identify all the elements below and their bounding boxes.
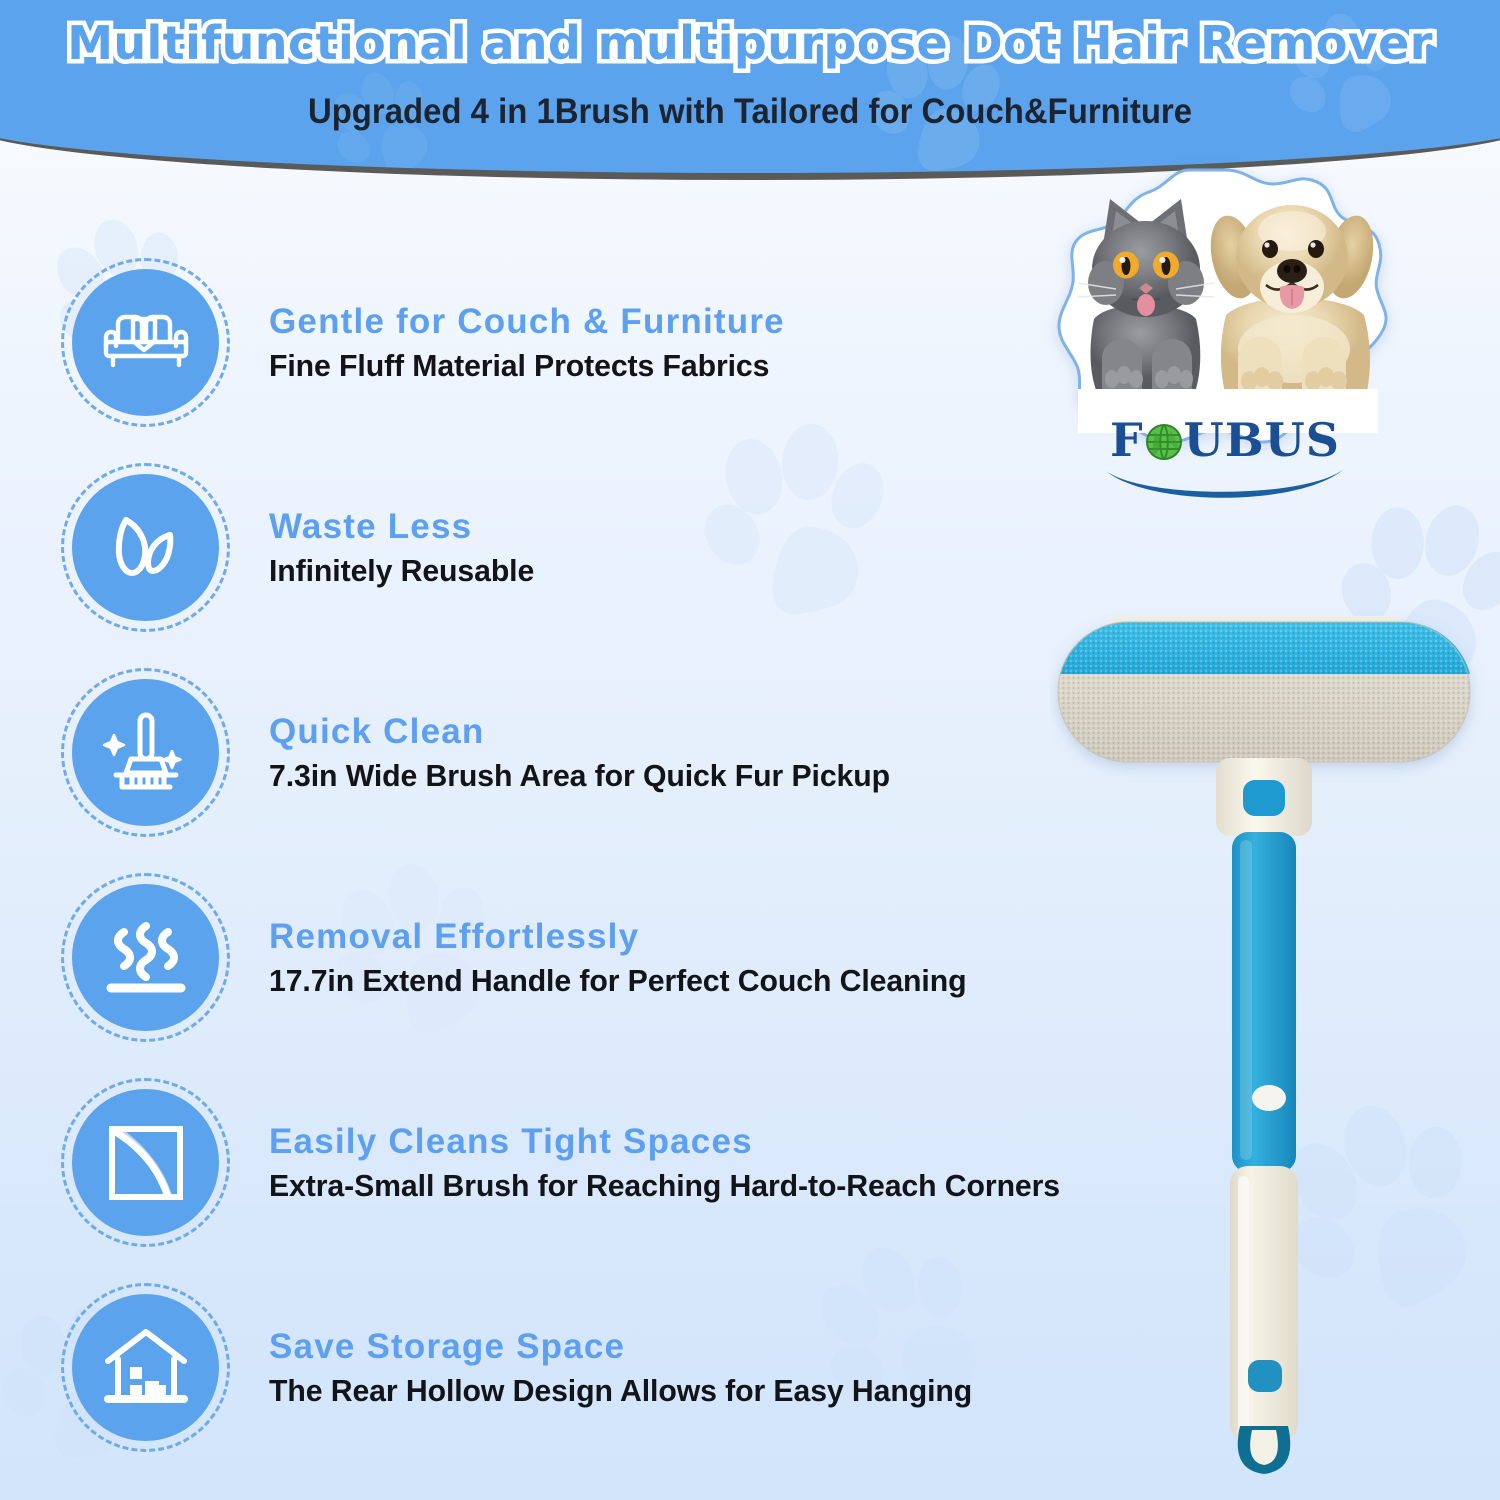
feature-heading: Save Storage Space (269, 1327, 990, 1366)
pet-photo-group (1058, 183, 1392, 433)
feature-heading: Gentle for Couch & Furniture (269, 302, 785, 341)
infographic-page: Multifunctional and multipurpose Dot Hai… (0, 0, 1500, 1500)
golden-retriever-puppy (1204, 205, 1381, 403)
handle-collar (1216, 758, 1312, 836)
feature-icon-badge (58, 460, 233, 635)
icon-circle (72, 884, 219, 1031)
hanging-hole (1248, 1360, 1282, 1392)
feature-text: Save Storage Space The Rear Hollow Desig… (233, 1327, 990, 1409)
lower-handle (1230, 1166, 1298, 1442)
house-icon (102, 1325, 190, 1411)
upper-handle (1232, 832, 1296, 1172)
feature-description: The Rear Hollow Design Allows for Easy H… (269, 1373, 972, 1409)
icon-circle (72, 1089, 219, 1236)
page-subtitle: Upgraded 4 in 1Brush with Tailored for C… (45, 92, 1455, 132)
grey-cat (1078, 199, 1214, 395)
header-banner: Multifunctional and multipurpose Dot Hai… (0, 0, 1500, 180)
feature-text: Waste Less Infinitely Reusable (233, 507, 541, 589)
logo-swoosh (1030, 465, 1420, 510)
hanging-loop (1238, 1426, 1291, 1474)
feature-item: Waste Less Infinitely Reusable (58, 445, 1068, 650)
feature-icon-badge (58, 1075, 233, 1250)
brush-head (1058, 622, 1470, 762)
feature-description: 17.7in Extend Handle for Perfect Couch C… (269, 963, 966, 999)
couch-icon (100, 310, 192, 376)
feature-icon-badge (58, 1280, 233, 1455)
logo-letter-f: F (1110, 413, 1144, 467)
page-title: Multifunctional and multipurpose Dot Hai… (0, 16, 1500, 70)
feature-heading: Waste Less (269, 507, 541, 546)
tight-corner-icon (105, 1122, 187, 1204)
product-image-hair-remover-brush (1050, 600, 1490, 1480)
handle-dot (1252, 1085, 1286, 1111)
feature-description: Extra-Small Brush for Reaching Hard-to-R… (269, 1168, 1060, 1204)
feature-description: Infinitely Reusable (269, 553, 534, 589)
feature-icon-badge (58, 665, 233, 840)
feature-heading: Easily Cleans Tight Spaces (269, 1122, 1080, 1161)
logo-letters-ubus: UBUS (1184, 413, 1340, 467)
feature-heading: Removal Effortlessly (269, 917, 984, 956)
feature-heading: Quick Clean (269, 712, 906, 751)
feature-item: Save Storage Space The Rear Hollow Desig… (58, 1265, 1068, 1470)
leaves-icon (104, 506, 188, 590)
icon-circle (72, 679, 219, 826)
feature-item: Quick Clean 7.3in Wide Brush Area for Qu… (58, 650, 1068, 855)
collar-hole (1243, 780, 1285, 816)
icon-circle (72, 1294, 219, 1441)
feature-description: 7.3in Wide Brush Area for Quick Fur Pick… (269, 758, 890, 794)
feature-text: Removal Effortlessly 17.7in Extend Handl… (233, 917, 984, 999)
icon-circle (72, 474, 219, 621)
brand-pet-badge: F UBUS (1030, 165, 1420, 515)
feature-icon-badge (58, 870, 233, 1045)
logo-wordmark: F UBUS (1110, 417, 1340, 463)
feature-list: Gentle for Couch & Furniture Fine Fluff … (58, 240, 1068, 1470)
feature-description: Fine Fluff Material Protects Fabrics (269, 348, 772, 384)
brand-logo: F UBUS (1030, 417, 1420, 510)
heat-waves-icon (103, 918, 189, 998)
globe-icon (1145, 422, 1183, 460)
feature-item: Gentle for Couch & Furniture Fine Fluff … (58, 240, 1068, 445)
feature-text: Gentle for Couch & Furniture Fine Fluff … (233, 302, 785, 384)
feature-icon-badge (58, 255, 233, 430)
feature-text: Quick Clean 7.3in Wide Brush Area for Qu… (233, 712, 906, 794)
feature-item: Easily Cleans Tight Spaces Extra-Small B… (58, 1060, 1068, 1265)
feature-item: Removal Effortlessly 17.7in Extend Handl… (58, 855, 1068, 1060)
icon-circle (72, 269, 219, 416)
broom-sparkle-icon (100, 709, 192, 797)
feature-text: Easily Cleans Tight Spaces Extra-Small B… (233, 1122, 1080, 1204)
